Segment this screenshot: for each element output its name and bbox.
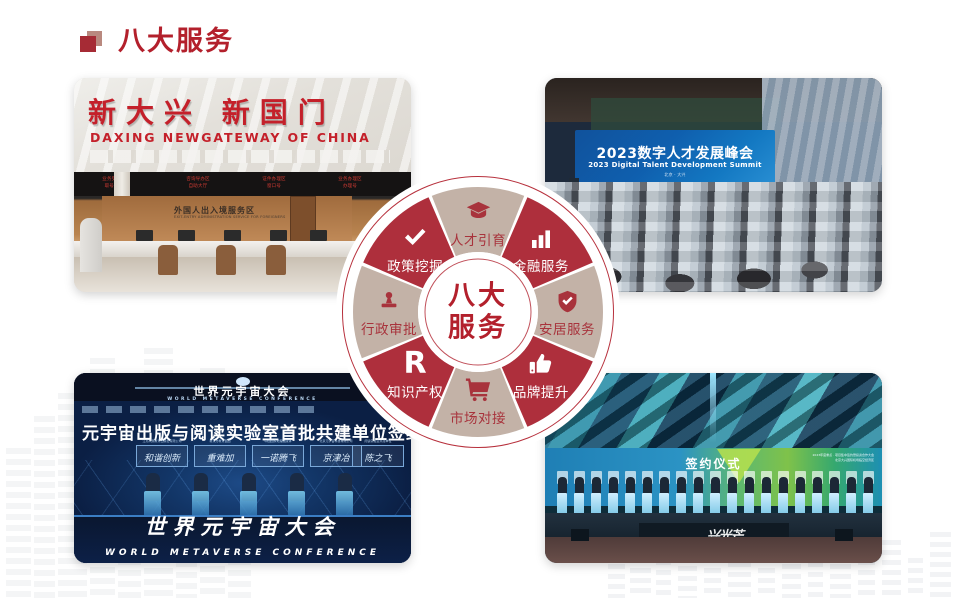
photo-summit-title-en: 2023 Digital Talent Development Summit xyxy=(575,161,775,169)
signing-desk xyxy=(642,493,652,515)
signing-desk xyxy=(744,493,754,515)
signing-desk xyxy=(693,493,703,515)
signing-desk xyxy=(591,493,601,515)
stage-speaker xyxy=(571,529,589,541)
signing-desk xyxy=(795,493,805,515)
monitor xyxy=(310,230,327,241)
chair xyxy=(158,245,178,275)
center-line-1: 八大 xyxy=(448,282,508,311)
page-title: 八大服务 xyxy=(118,28,234,55)
monitor xyxy=(270,230,287,241)
signing-desk xyxy=(761,493,771,515)
kiosk xyxy=(80,218,102,272)
photo-meta-signature: 和谐创新 xyxy=(136,451,188,464)
square-marker-icon xyxy=(80,31,104,53)
photo-meta-footer-en: WORLD METAVERSE CONFERENCE xyxy=(74,548,411,558)
photo-gov-sign-en: DAXING NEWGATEWAY OF CHINA xyxy=(90,130,398,145)
monitor xyxy=(178,230,195,241)
photo-meta-footer-cn: 世界元宇宙大会 xyxy=(74,511,411,541)
photo-meta-signature: 一诺腾飞 xyxy=(252,451,304,464)
building-column xyxy=(758,558,776,598)
poster-canvas: 八大服务 新大兴 新国门 DAXING NEWGATEWAY OF CHINA … xyxy=(0,0,961,598)
signing-desk xyxy=(608,493,618,515)
signing-desk xyxy=(863,493,873,515)
signing-desk xyxy=(710,493,720,515)
chair xyxy=(266,245,286,275)
building-column xyxy=(908,558,924,598)
signature-label: 新东方教育集团 xyxy=(194,439,246,443)
building-column xyxy=(808,562,824,598)
sponsor-logo-row xyxy=(82,406,322,413)
backdrop-subtext: 2023年度重点 · 项目集中签约暨投资合作大会北京大兴国际机场临空经济区 xyxy=(813,453,875,462)
signing-desk xyxy=(625,493,635,515)
signing-desk xyxy=(778,493,788,515)
chair xyxy=(216,245,236,275)
building-column xyxy=(930,532,952,598)
signing-desk xyxy=(557,493,567,515)
wall-panels xyxy=(90,150,390,163)
signatory-row xyxy=(545,473,882,515)
signing-desk xyxy=(659,493,669,515)
photo-meta-signature: 重难加 xyxy=(194,451,246,464)
monitor xyxy=(224,230,241,241)
signing-desk xyxy=(727,493,737,515)
photo-gov-sign-cn: 新大兴 新国门 xyxy=(88,91,398,131)
signing-desk xyxy=(812,493,822,515)
signing-desk xyxy=(829,493,839,515)
signing-desk xyxy=(676,493,686,515)
building-column xyxy=(656,560,672,598)
center-line-2: 服务 xyxy=(448,313,508,342)
photo-gov-desk-en: EXIT-ENTRY ADMINISTRATION SERVICE FOR FO… xyxy=(174,215,285,219)
floor xyxy=(545,537,882,563)
stage-speaker xyxy=(835,529,853,541)
building-column xyxy=(6,448,32,598)
signature-label: 阅读实验室共建单位 xyxy=(352,439,404,443)
photo-summit-subtitle: 北京 · 大兴 xyxy=(575,172,775,177)
wheel-center-label: 八大 服务 xyxy=(425,259,532,366)
building-column xyxy=(34,416,56,598)
monitor xyxy=(136,230,153,241)
section-header: 八大服务 xyxy=(80,28,234,55)
photo-summit-title-cn: 2023数字人才发展峰会 xyxy=(575,143,775,163)
signature-label: 中国国家地理融媒体 xyxy=(252,439,304,443)
light-beam xyxy=(710,373,716,443)
signing-desk xyxy=(574,493,584,515)
signature-label: 江苏凤凰教育出版社有限公司 xyxy=(136,439,188,443)
signing-desk xyxy=(846,493,856,515)
photo-meta-signature: 陈之飞 xyxy=(352,451,404,464)
building-column xyxy=(882,540,902,598)
